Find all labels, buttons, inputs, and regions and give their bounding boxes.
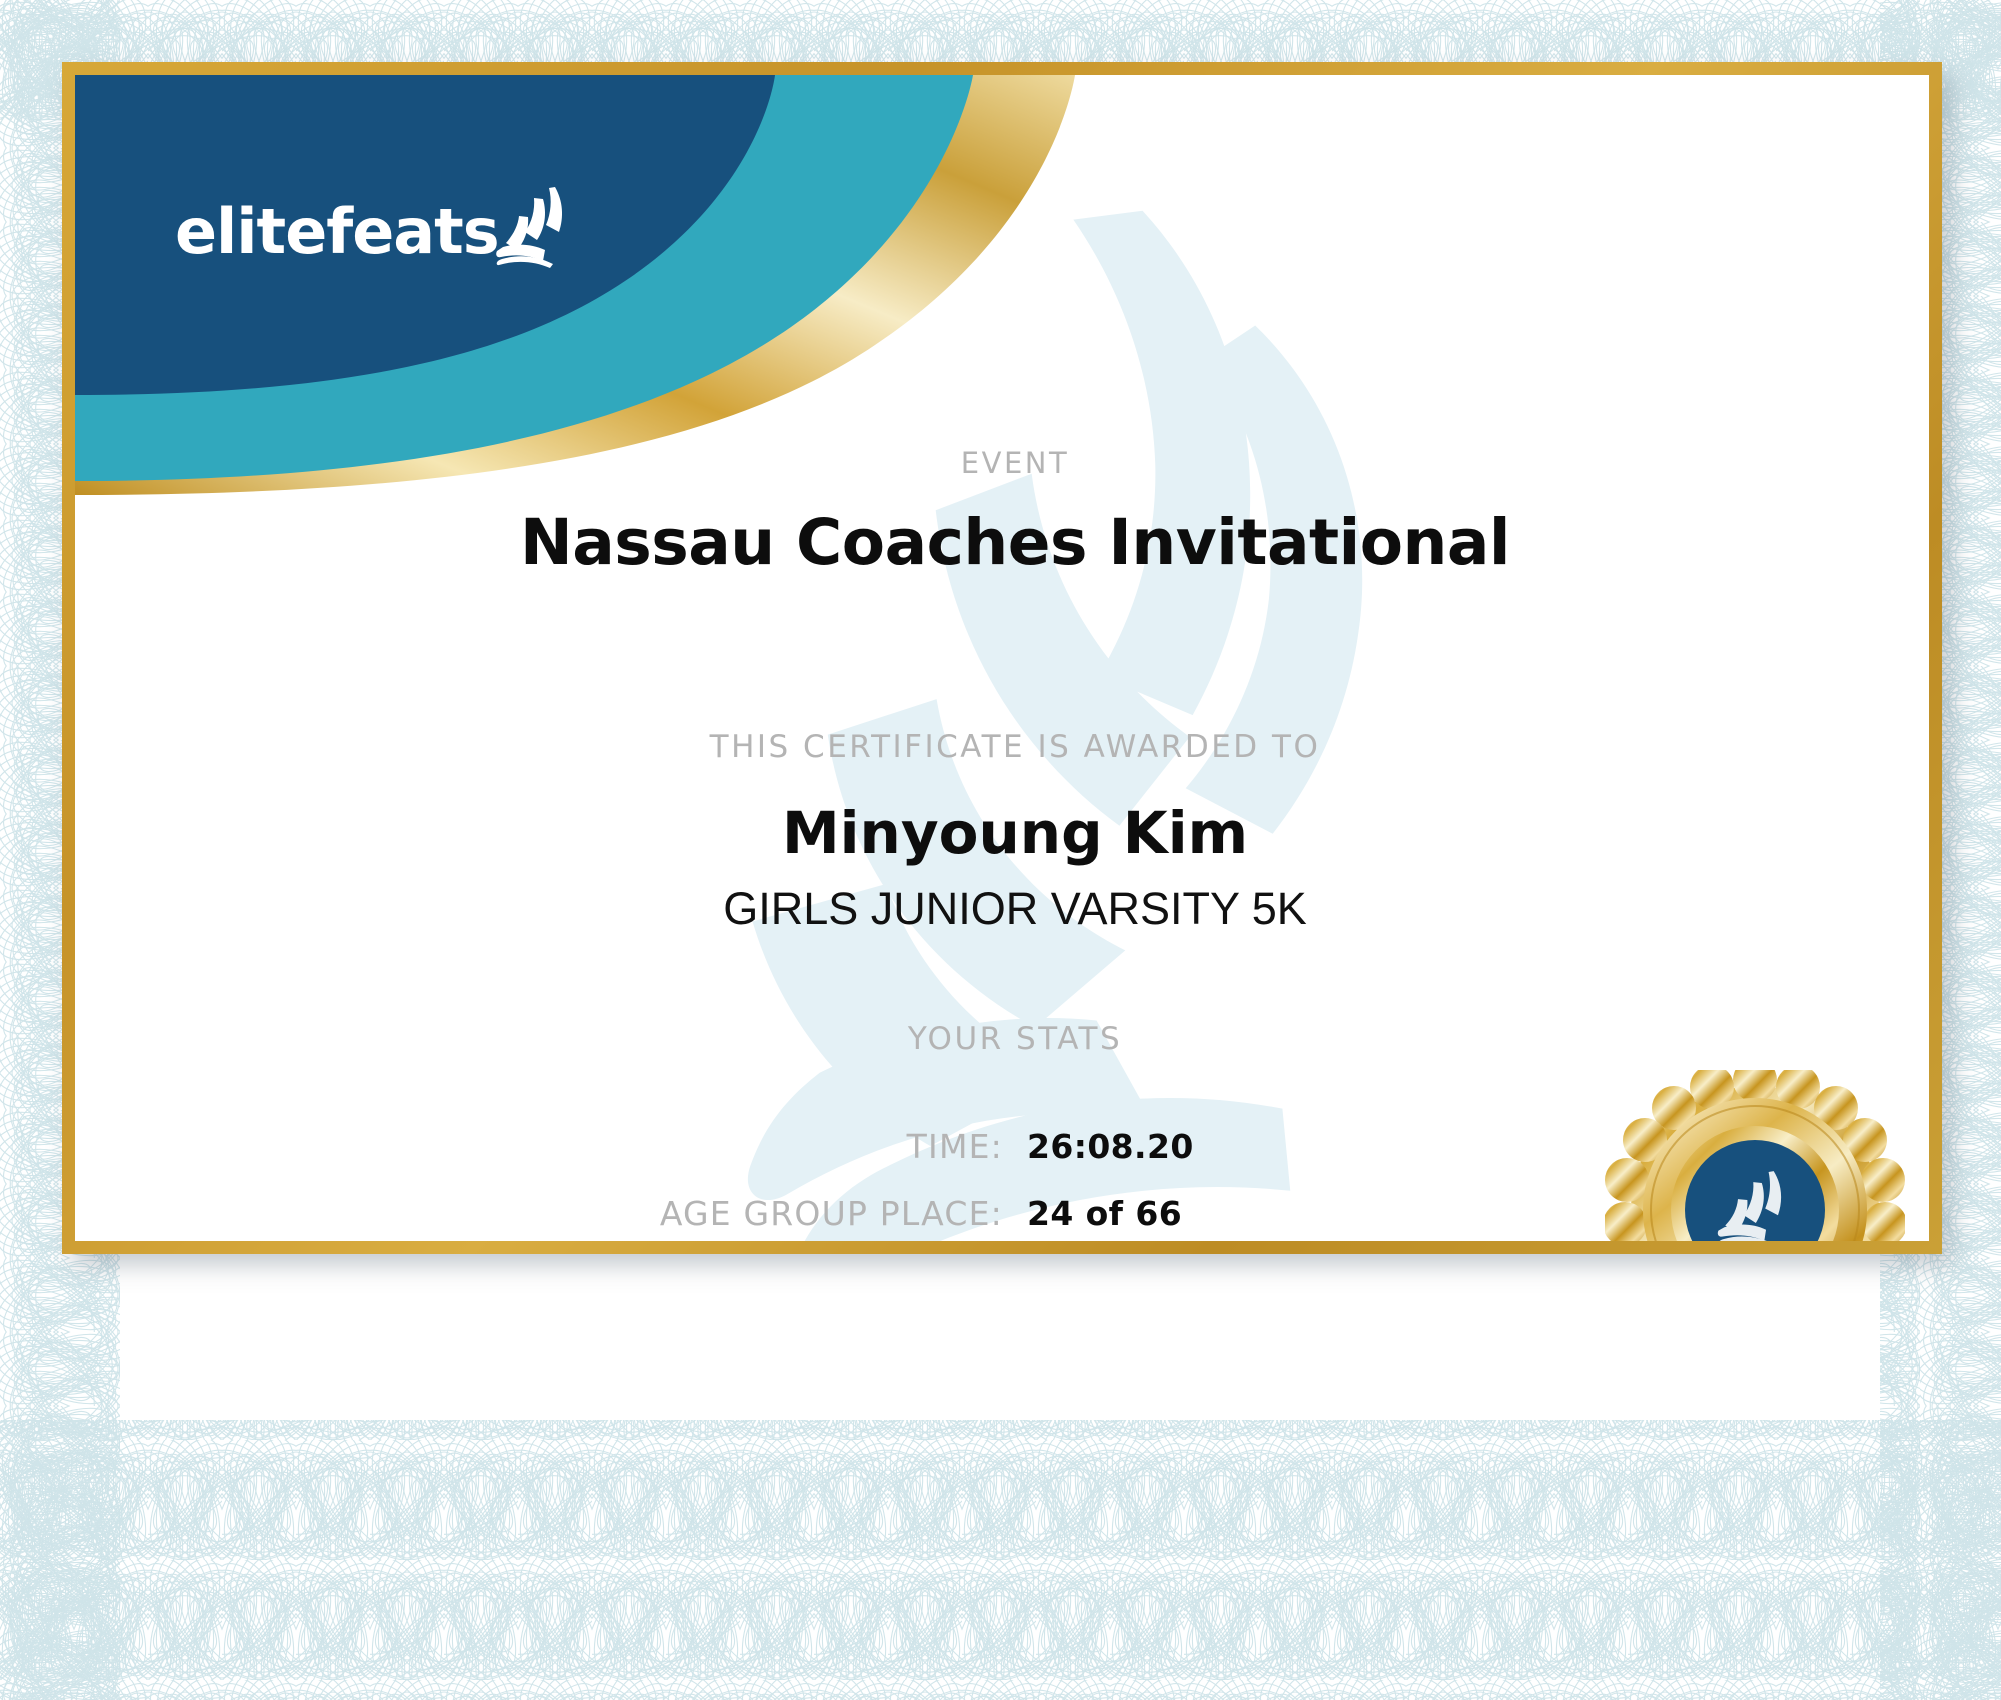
stat-label-time: TIME: [88, 1113, 1015, 1180]
awarded-to-label: THIS CERTIFICATE IS AWARDED TO [88, 729, 1929, 765]
finisher-medal-badge: 2025 [1590, 1070, 1920, 1241]
event-label: EVENT [88, 446, 1929, 480]
event-name: Nassau Coaches Invitational [88, 506, 1929, 579]
recipient-name: Minyoung Kim [88, 799, 1929, 867]
race-category: GIRLS JUNIOR VARSITY 5K [88, 883, 1929, 935]
certificate-gold-frame: elitefeats EVENT Nassau Coaches Invitati… [62, 62, 1942, 1254]
your-stats-label: YOUR STATS [88, 1021, 1929, 1057]
stat-label-age-group-place: AGE GROUP PLACE: [88, 1180, 1015, 1241]
medal-rosette-icon: 2025 [1605, 1070, 1905, 1241]
certificate-page: elitefeats EVENT Nassau Coaches Invitati… [0, 0, 2001, 1700]
certificate-body: elitefeats EVENT Nassau Coaches Invitati… [75, 75, 1929, 1241]
certificate-content: EVENT Nassau Coaches Invitational THIS C… [88, 88, 1929, 1241]
